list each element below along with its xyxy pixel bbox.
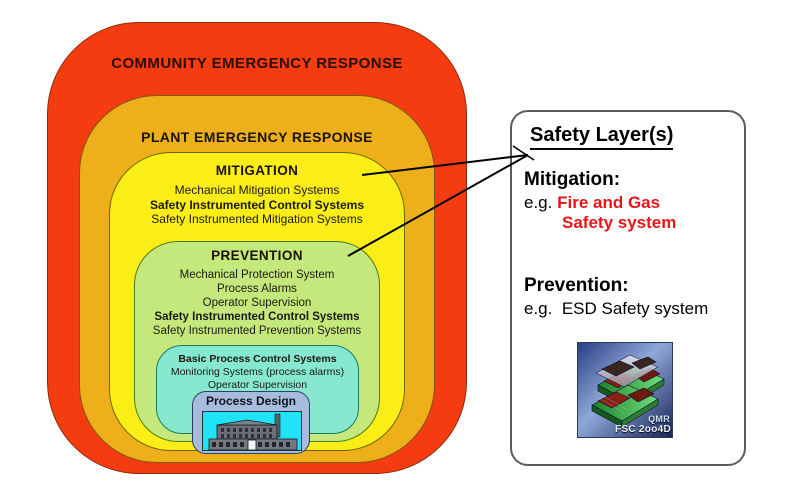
bpcs-item-1: Basic Process Control Systems — [157, 353, 358, 366]
layer-community-heading: COMMUNITY EMERGENCY RESPONSE — [48, 55, 466, 72]
bpcs-item-2: Monitoring Systems (process alarms) — [157, 366, 358, 379]
plant-artwork-svg — [203, 412, 302, 451]
panel-mitigation-example: e.g. Fire and Gas Safety system — [524, 193, 676, 233]
panel-mitigation-eg-line2: Safety system — [562, 213, 676, 233]
prevention-item-5: Safety Instrumented Prevention Systems — [135, 324, 379, 338]
process-design-label: Process Design — [193, 394, 309, 408]
bpcs-item-3: Operator Supervision — [157, 379, 358, 392]
prevention-item-2: Process Alarms — [135, 282, 379, 296]
process-design-box: Process Design — [192, 391, 310, 454]
diagram-canvas: COMMUNITY EMERGENCY RESPONSE PLANT EMERG… — [0, 0, 800, 500]
layer-prevention-items: Mechanical Protection System Process Ala… — [135, 268, 379, 338]
panel-mitigation-block: Mitigation: e.g. Fire and Gas Safety sys… — [524, 169, 676, 233]
hardware-caption-qmr: QMR — [648, 414, 670, 424]
mitigation-item-3: Safety Instrumented Mitigation Systems — [110, 212, 404, 227]
controller-module-photo: QMR FSC 2oo4D — [577, 342, 673, 438]
layer-mitigation-items: Mechanical Mitigation Systems Safety Ins… — [110, 183, 404, 227]
panel-prevention-heading: Prevention: — [524, 275, 708, 297]
layer-prevention-heading: PREVENTION — [135, 248, 379, 263]
safety-layers-panel: Safety Layer(s) Mitigation: e.g. Fire an… — [510, 110, 746, 466]
layer-plant-heading: PLANT EMERGENCY RESPONSE — [80, 129, 434, 145]
prevention-item-1: Mechanical Protection System — [135, 268, 379, 282]
prevention-item-3: Operator Supervision — [135, 296, 379, 310]
prevention-item-4: Safety Instrumented Control Systems — [135, 310, 379, 324]
panel-mitigation-eg-line1: Fire and Gas — [557, 193, 660, 212]
panel-prevention-block: Prevention: e.g. ESD Safety system — [524, 275, 708, 319]
industrial-plant-illustration — [202, 411, 302, 451]
panel-mitigation-eg-prefix: e.g. — [524, 193, 552, 212]
panel-mitigation-heading: Mitigation: — [524, 169, 676, 191]
panel-prevention-example: e.g. ESD Safety system — [524, 299, 708, 319]
hardware-caption-fsc: FSC 2oo4D — [615, 424, 671, 435]
layer-mitigation-heading: MITIGATION — [110, 163, 404, 178]
panel-prevention-eg-value: ESD Safety system — [562, 299, 708, 318]
mitigation-item-1: Mechanical Mitigation Systems — [110, 183, 404, 198]
panel-prevention-eg-prefix: e.g. — [524, 299, 552, 318]
mitigation-item-2: Safety Instrumented Control Systems — [110, 198, 404, 213]
layer-bpcs-items: Basic Process Control Systems Monitoring… — [157, 353, 358, 391]
panel-title: Safety Layer(s) — [530, 124, 673, 150]
